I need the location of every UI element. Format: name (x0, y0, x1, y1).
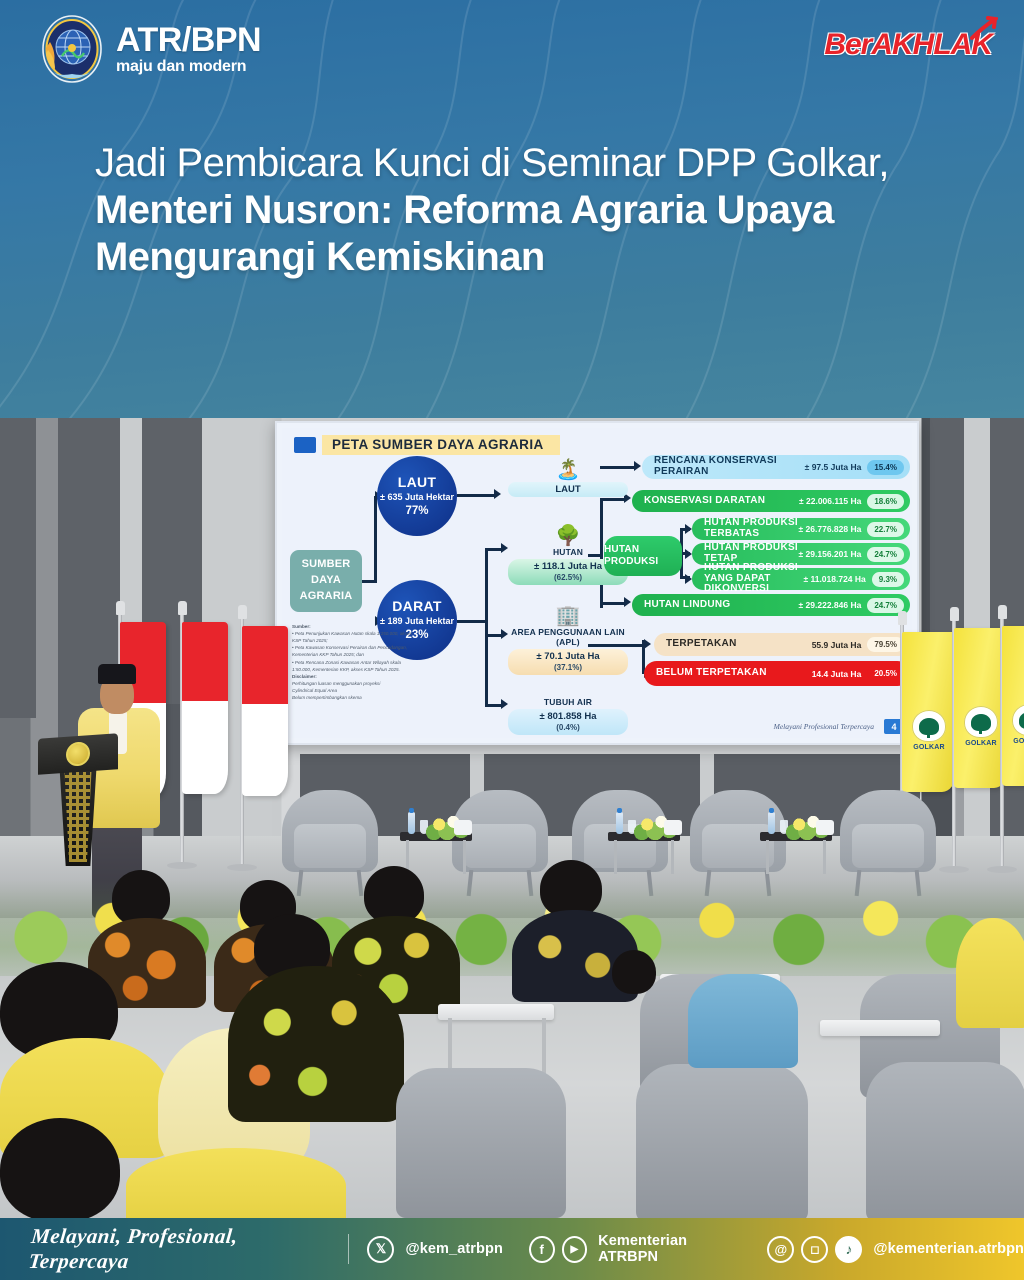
atr-bpn-crest-icon (40, 14, 104, 84)
node-value-text: ± 118.1 Juta Ha (534, 561, 602, 572)
node-title: DARAT (392, 598, 441, 615)
connector-arrow (501, 699, 508, 709)
instagram-icon[interactable]: ◻ (801, 1236, 828, 1263)
bar-percent: 24.7% (867, 547, 904, 562)
audience-chair (866, 1062, 1024, 1220)
fb-yt-handle[interactable]: Kementerian ATRBPN (598, 1233, 741, 1265)
node-title: LAUT (398, 474, 437, 491)
wall-panel (0, 418, 36, 718)
headline-line-1: Jadi Pembicara Kunci di Seminar DPP Golk… (95, 140, 995, 187)
slide-footer-script: Melayani Profesional Terpercaya (774, 722, 874, 731)
peci-cap (98, 664, 136, 684)
bar-label: TERPETAKAN (666, 639, 737, 650)
golkar-banyan-tree-icon (1012, 704, 1024, 736)
bar-percent: 9.3% (872, 572, 904, 587)
bar-label: HUTAN PRODUKSI TERBATAS (704, 518, 799, 540)
berakhlak-logo: BerAKHLAK (824, 28, 992, 62)
bar-label: KONSERVASI DARATAN (644, 496, 765, 507)
source-item: • Peta Rencana Zonasi Kawasan Antar Wila… (292, 659, 417, 673)
connector (485, 548, 488, 706)
bar-percent: 15.4% (867, 460, 904, 475)
slide-sources: Sumber: • Peta Penunjukan Kawasan Hutan … (292, 623, 417, 701)
social-handle[interactable]: @kementerian.atrbpn (873, 1241, 1024, 1257)
bar-value: ± 26.776.828 Ha (799, 524, 862, 534)
audience-person (956, 918, 1024, 1028)
node-value-text: ± 70.1 Juta Ha (536, 651, 599, 662)
node-label: SUMBER DAYA AGRARIA (290, 557, 362, 605)
atr-bpn-logo: ATR/BPN maju dan modern (40, 14, 261, 84)
facebook-icon[interactable]: f (529, 1236, 555, 1263)
source-item: • Peta Kawasan Konservasi Perairan dan P… (292, 644, 417, 658)
bar-hutan-lindung: HUTAN LINDUNG ± 29.222.846 Ha 24.7% (632, 594, 910, 616)
side-table (760, 832, 832, 874)
bar-terpetakan: TERPETAKAN 55.9 Juta Ha 79.5% (654, 633, 910, 656)
node-value: ± 635 Juta Hektar (380, 492, 454, 503)
bar-value: ± 29.156.201 Ha (799, 549, 862, 559)
island-icon: 🏝️ (508, 460, 628, 480)
connector (374, 496, 377, 583)
bar-percent: 20.5% (867, 666, 904, 681)
headline-line-2: Menteri Nusron: Reforma Agraria Upaya (95, 187, 995, 234)
node-hutan-produksi: HUTAN PRODUKSI (604, 536, 682, 576)
connector-arrow (634, 461, 641, 471)
audience-chair (636, 1064, 808, 1220)
audience-table (438, 1004, 554, 1020)
source-item: • Peta Penunjukan Kawasan Hutan skala 1:… (292, 630, 417, 644)
social-group-x: 𝕏 @kem_atrbpn (367, 1236, 502, 1263)
golkar-banyan-tree-icon (912, 710, 946, 742)
bar-rencana-konservasi-perairan: RENCANA KONSERVASI PERAIRAN ± 97.5 Juta … (642, 455, 910, 479)
audience-person (688, 974, 798, 1068)
connector-arrow (644, 639, 651, 649)
social-group-threads-ig-tiktok: @ ◻ ♪ @kementerian.atrbpn (767, 1236, 1024, 1263)
connector (457, 494, 495, 497)
golkar-flag-label: GOLKAR (913, 744, 945, 751)
audience-person (0, 1118, 120, 1220)
side-table (608, 832, 680, 874)
bar-label: BELUM TERPETAKAN (656, 668, 767, 679)
bar-value: ± 29.222.846 Ha (799, 600, 862, 610)
node-tubuh-air-mid: TUBUH AIR ± 801.858 Ha (0.4%) (508, 696, 628, 735)
bar-percent: 24.7% (867, 598, 904, 613)
bar-konservasi-daratan: KONSERVASI DARATAN ± 22.006.115 Ha 18.6% (632, 490, 910, 512)
sources-heading: Sumber: (292, 624, 311, 629)
golkar-flag-label: GOLKAR (1013, 738, 1024, 745)
bar-hutan-produksi-dikonversi: HUTAN PRODUKSI YANG DAPAT DIKONVERSI ± 1… (692, 568, 910, 590)
node-apl-mid: 🏢 AREA PENGGUNAAN LAIN (APL) ± 70.1 Juta… (508, 606, 628, 675)
connector-arrow (685, 524, 692, 534)
bar-value: ± 97.5 Juta Ha (805, 462, 862, 472)
bar-percent: 18.6% (867, 494, 904, 509)
connector-arrow (685, 549, 692, 559)
node-percent: 77% (405, 504, 428, 518)
slide: PETA SUMBER DAYA AGRARIA (282, 428, 912, 738)
node-value: ± 801.858 Ha (0.4%) (508, 709, 628, 735)
berakhlak-label: BerAKHLAK (824, 28, 992, 61)
headline: Jadi Pembicara Kunci di Seminar DPP Golk… (95, 140, 995, 282)
disclaimer-item: Belum mempertimbangkan skema (292, 694, 417, 701)
stage-chair (840, 790, 936, 872)
berakhlak-swoosh-icon (968, 16, 998, 42)
node-label: LAUT (508, 482, 628, 497)
slide-title: PETA SUMBER DAYA AGRARIA (322, 435, 560, 455)
bar-percent: 22.7% (867, 522, 904, 537)
connector-arrow (501, 543, 508, 553)
bar-value: ± 22.006.115 Ha (799, 496, 861, 506)
tiktok-icon[interactable]: ♪ (835, 1236, 862, 1263)
audience-person (612, 950, 656, 994)
connector (457, 620, 487, 623)
slide-header: PETA SUMBER DAYA AGRARIA (294, 435, 560, 455)
connector (600, 602, 626, 605)
table-leg (542, 1018, 546, 1078)
connector (600, 498, 626, 501)
footer-bar: Melayani, Profesional, Terpercaya 𝕏 @kem… (0, 1218, 1024, 1280)
bar-value: 55.9 Juta Ha (812, 640, 862, 650)
disclaimer-heading: Disclaimer: (292, 674, 317, 679)
stage-chair (282, 790, 378, 872)
headline-line-3: Mengurangi Kemiskinan (95, 234, 995, 281)
audience-chair (396, 1068, 566, 1218)
node-sub: (62.5%) (554, 573, 582, 582)
event-photo: PETA SUMBER DAYA AGRARIA (0, 418, 1024, 1220)
poster-root: ATR/BPN maju dan modern BerAKHLAK Jadi P… (0, 0, 1024, 1280)
brand-subtitle: maju dan modern (116, 59, 261, 75)
bar-label: HUTAN PRODUKSI YANG DAPAT DIKONVERSI (704, 563, 803, 595)
footer-divider (348, 1234, 350, 1264)
podium (38, 736, 118, 866)
bar-value: ± 11.018.724 Ha (803, 574, 865, 584)
node-sub: (0.4%) (556, 723, 580, 732)
node-sumber-daya-agraria: SUMBER DAYA AGRARIA (290, 550, 362, 612)
connector-arrow (685, 574, 692, 584)
top-banner: ATR/BPN maju dan modern BerAKHLAK Jadi P… (0, 0, 1024, 420)
node-value-text: ± 801.858 Ha (540, 711, 597, 722)
node-sub: (37.1%) (554, 663, 582, 672)
social-group-fb-yt: f ▶ Kementerian ATRBPN (529, 1233, 741, 1265)
node-value: ± 70.1 Juta Ha (37.1%) (508, 649, 628, 675)
golkar-flag-label: GOLKAR (965, 740, 997, 747)
golkar-banyan-tree-icon (964, 706, 998, 738)
presentation-screen: PETA SUMBER DAYA AGRARIA (275, 421, 919, 745)
bar-label: HUTAN LINDUNG (644, 600, 730, 611)
side-table (400, 832, 472, 874)
podium-seal-icon (66, 741, 90, 767)
node-label: AREA PENGGUNAAN LAIN (APL) (508, 627, 628, 647)
bar-label: RENCANA KONSERVASI PERAIRAN (654, 456, 805, 478)
youtube-icon[interactable]: ▶ (562, 1236, 588, 1263)
bar-percent: 79.5% (867, 637, 904, 652)
footer-tagline: Melayani, Profesional, Terpercaya (27, 1224, 328, 1274)
connector-arrow (501, 629, 508, 639)
slide-bullet-icon (294, 437, 316, 453)
node-laut: LAUT ± 635 Juta Hektar 77% (377, 456, 457, 536)
audience-table (820, 1020, 940, 1036)
x-handle[interactable]: @kem_atrbpn (405, 1241, 502, 1257)
x-twitter-icon[interactable]: 𝕏 (367, 1236, 394, 1263)
disclaimer-item: Perhitungan luasan menggunakan proyeksi (292, 680, 417, 687)
node-laut-mid: 🏝️ LAUT (508, 460, 628, 497)
audience-person (228, 966, 404, 1122)
building-icon: 🏢 (508, 606, 628, 626)
node-label: HUTAN PRODUKSI (604, 544, 682, 568)
bar-hutan-produksi-terbatas: HUTAN PRODUKSI TERBATAS ± 26.776.828 Ha … (692, 518, 910, 540)
brand-title: ATR/BPN (116, 23, 261, 57)
disclaimer-item: Cylindrical Equal Area (292, 687, 417, 694)
bar-belum-terpetakan: BELUM TERPETAKAN 14.4 Juta Ha 20.5% (644, 661, 910, 686)
threads-icon[interactable]: @ (767, 1236, 794, 1263)
audience-person (126, 1148, 346, 1220)
node-label: TUBUH AIR (508, 697, 628, 707)
connector-arrow (494, 489, 501, 499)
bar-value: 14.4 Juta Ha (812, 669, 862, 679)
